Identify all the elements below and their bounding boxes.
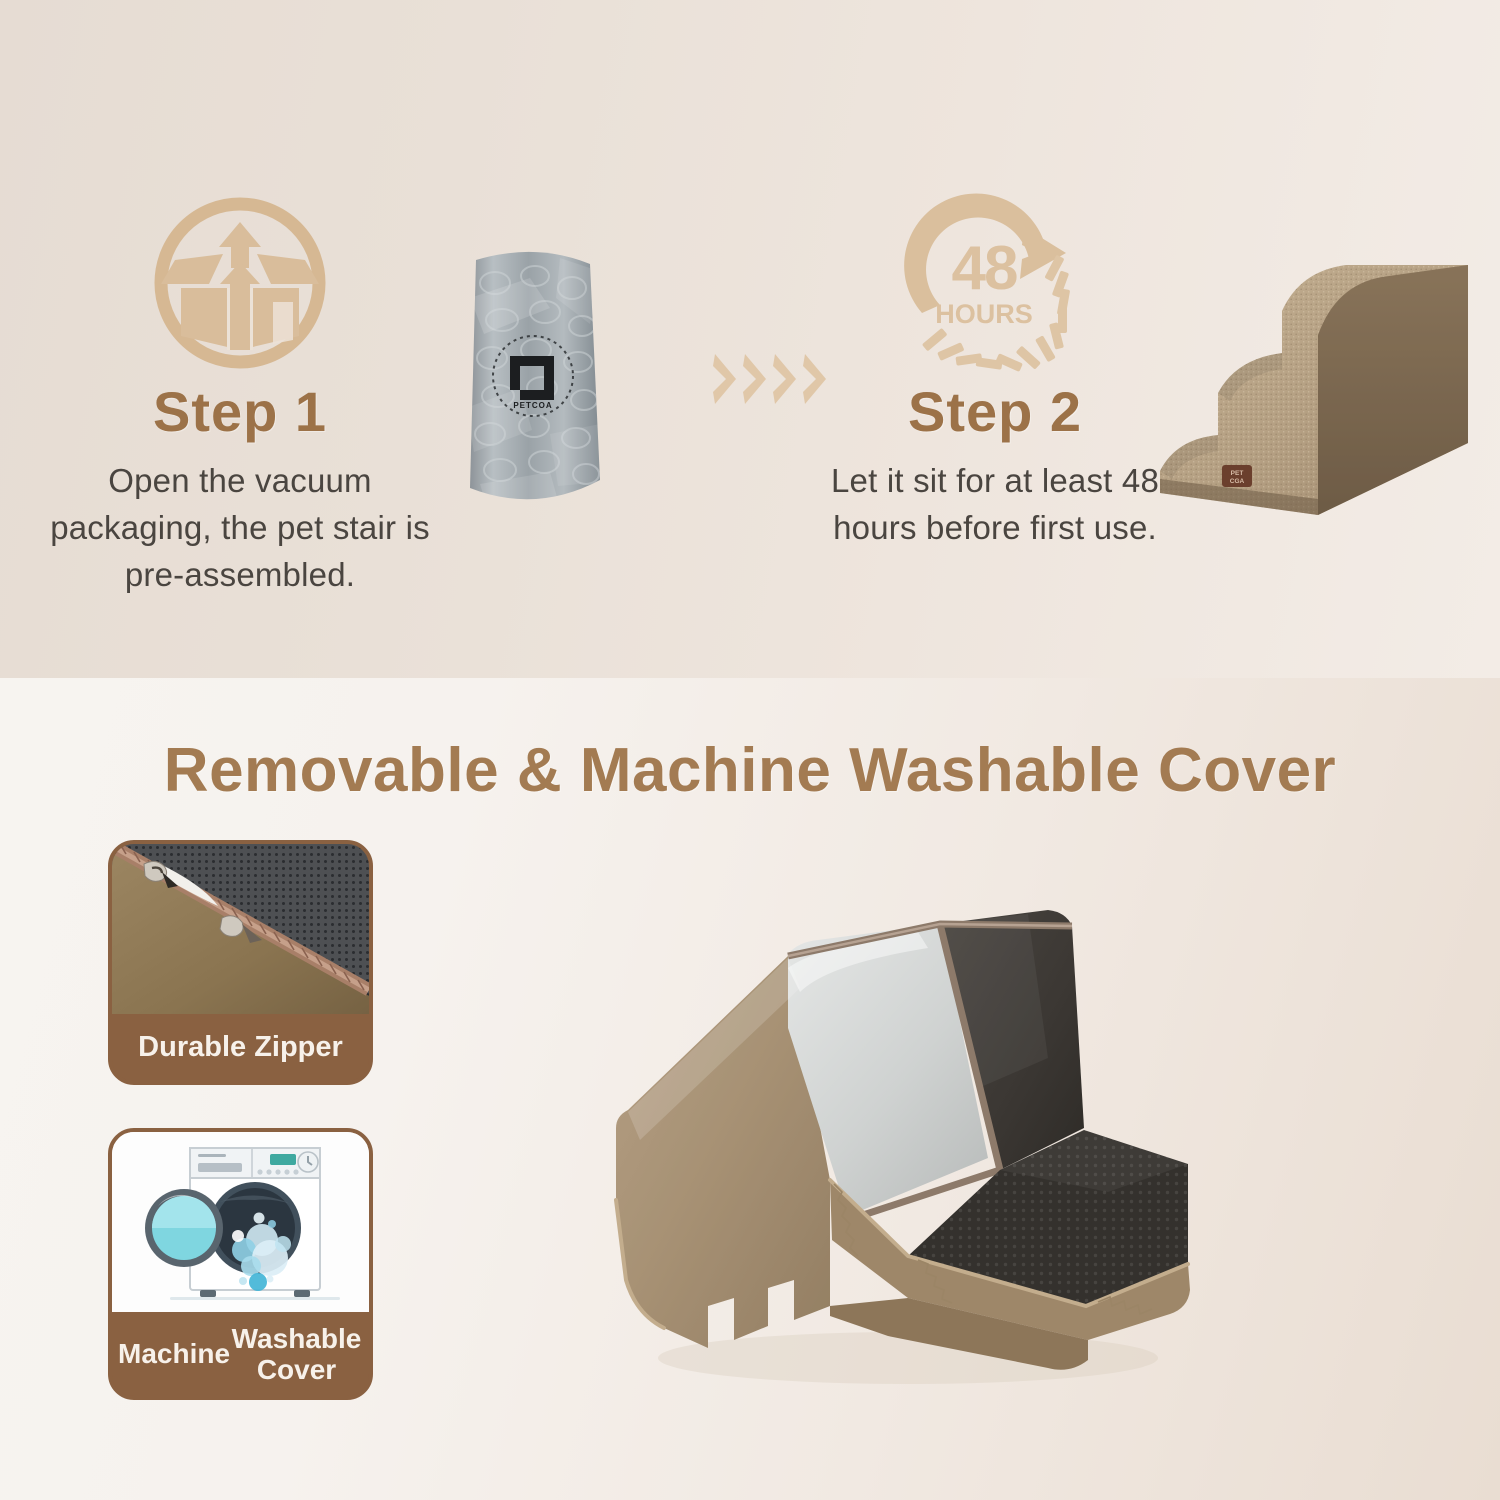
section-title: Removable & Machine Washable Cover [0,735,1500,806]
brand-name-label: PETCOA [513,401,552,410]
step-2-icon-wrap: 48 HOURS [795,188,1195,378]
step-1-title: Step 1 [30,384,450,440]
washing-machine-illustration [112,1132,369,1312]
step-1-icon-wrap [30,188,450,378]
chevron-right-icon [742,352,768,406]
step-1-description: Open the vacuum packaging, the pet stair… [30,458,450,599]
vacuum-packed-roll-photo: PETCOA [440,238,630,518]
pet-stair-cover-peeled-photo [488,828,1208,1428]
machine-washable-label: Machine Washable Cover [112,1312,369,1396]
48-label: 48 [952,234,1017,303]
durable-zipper-label: Durable Zipper [112,1014,369,1081]
machine-washable-badge-card: Machine Washable Cover [108,1128,373,1400]
chevron-right-icon [712,352,738,406]
48-hours-clock-icon: 48 HOURS [900,193,1090,373]
pet-stair-product-photo: PET CGA [1150,243,1500,533]
washable-cover-panel: Removable & Machine Washable Cover [0,678,1500,1500]
svg-text:PET: PET [1231,470,1244,477]
washer-door-icon [145,1189,223,1267]
step-2-title: Step 2 [795,384,1195,440]
step-2-description: Let it sit for at least 48 hours before … [795,458,1195,552]
machine-washable-label-line1: Machine [118,1338,230,1369]
step-1-block: Step 1 Open the vacuum packaging, the pe… [30,188,450,599]
durable-zipper-badge-card: Durable Zipper [108,840,373,1085]
brand-tag: PET CGA [1222,465,1252,487]
machine-washable-label-line2: Washable Cover [230,1323,363,1386]
zipper-closeup-photo [112,844,369,1014]
assembly-steps-panel: Step 1 Open the vacuum packaging, the pe… [0,0,1500,678]
step-2-block: 48 HOURS Step 2 Let it sit for at least … [795,188,1195,552]
svg-text:CGA: CGA [1230,478,1245,485]
hours-label: HOURS [935,299,1033,329]
open-box-arrow-icon [147,190,333,376]
